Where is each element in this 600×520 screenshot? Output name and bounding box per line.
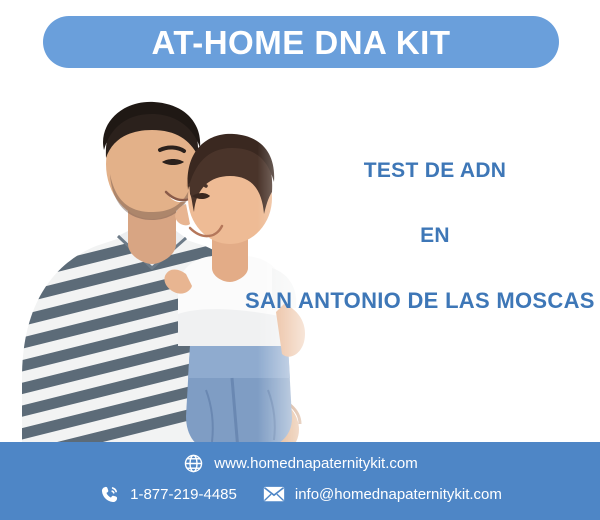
footer-website-label: www.homednapaternitykit.com (214, 456, 417, 471)
footer-email-label: info@homednapaternitykit.com (295, 487, 502, 502)
poster: AT-HOME DNA KIT (0, 0, 600, 520)
globe-icon (182, 452, 204, 474)
footer-website-item[interactable]: www.homednapaternitykit.com (182, 452, 417, 474)
banner-title: AT-HOME DNA KIT (152, 26, 451, 59)
headline-connector: EN (245, 225, 600, 246)
header-banner: AT-HOME DNA KIT (43, 16, 559, 68)
headline-service: TEST DE ADN (245, 160, 600, 181)
footer-phone-label: 1-877-219-4485 (130, 487, 237, 502)
footer-contact-row: 1-877-219-4485 info@homednapaternitykit.… (0, 483, 600, 505)
footer-website-row: www.homednapaternitykit.com (0, 452, 600, 474)
footer-bar: www.homednapaternitykit.com 1-877-219-44… (0, 442, 600, 520)
footer-email-item[interactable]: info@homednapaternitykit.com (263, 483, 502, 505)
phone-icon (98, 483, 120, 505)
headline-block: TEST DE ADN EN SAN ANTONIO DE LAS MOSCAS (245, 160, 600, 312)
envelope-icon (263, 483, 285, 505)
headline-location: SAN ANTONIO DE LAS MOSCAS (245, 290, 600, 312)
footer-phone-item[interactable]: 1-877-219-4485 (98, 483, 237, 505)
